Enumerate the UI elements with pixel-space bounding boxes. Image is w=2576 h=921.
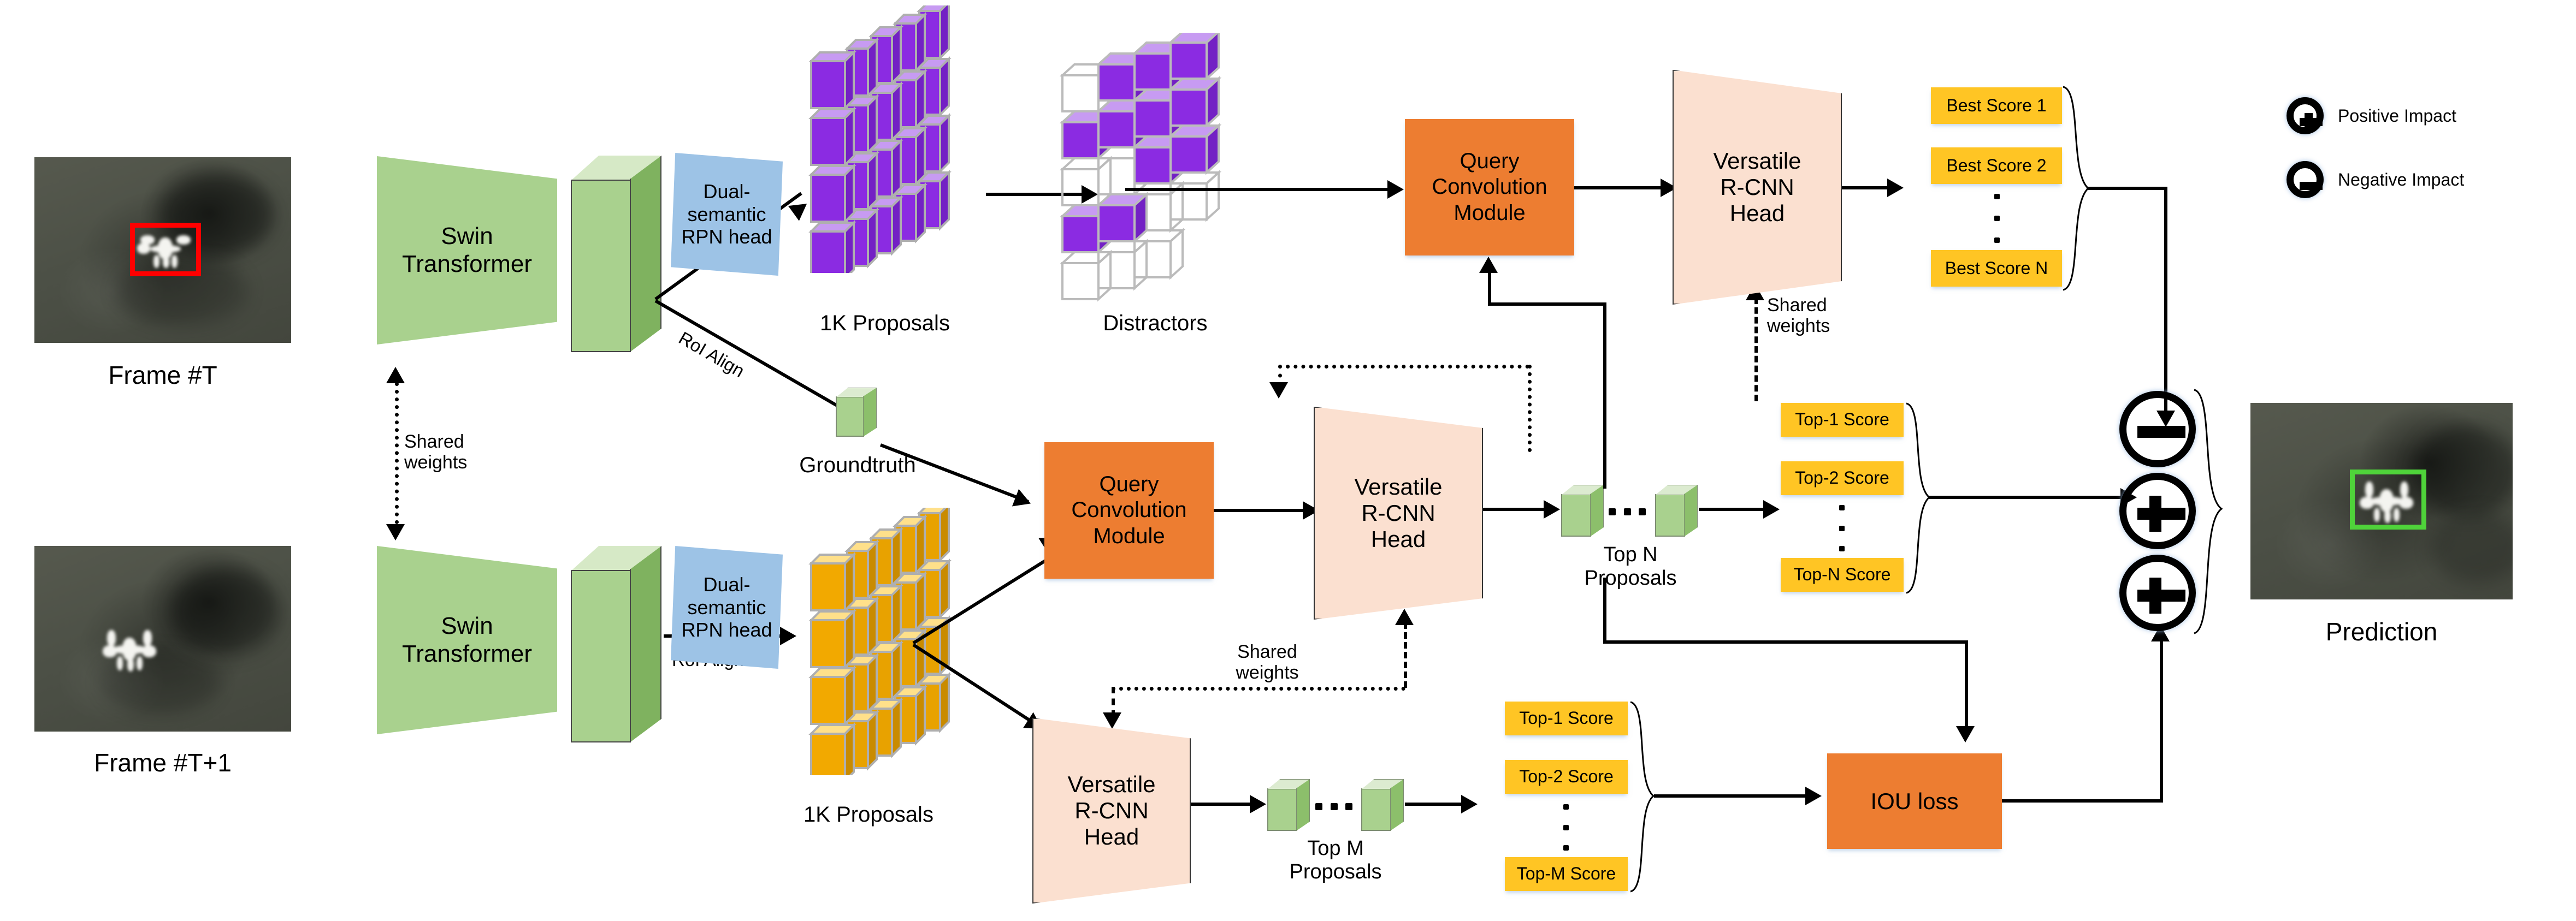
best-score-2-box[interactable]: Best Score 2 [1931,147,2062,184]
versatile-rcnn-head-bottom[interactable]: Versatile R-CNN Head [1032,718,1191,904]
input-frame-t-image [34,157,291,343]
plus-operator-circle-2 [2119,555,2196,631]
proposals-1k-top-label: 1K Proposals [792,311,978,336]
arrow-distractors-to-queryconv-top [1387,180,1404,199]
groundtruth-cube [836,388,877,437]
input-frame-t1-image [34,546,291,732]
query-convolution-module-top[interactable]: Query Convolution Module [1405,119,1574,255]
arrow-topn-to-scores [1763,500,1780,519]
arrow-head-to-bestscores [1887,179,1904,197]
line-topm-to-scores [1405,803,1465,806]
dotted-feedback-line-top [1278,365,1529,369]
top-m-proposals-label: Top M Proposals [1265,837,1407,883]
feature-map-top [571,156,661,352]
line-down-to-iou-loss [1965,640,1968,730]
top-m-proposals-ellipsis [1315,803,1352,810]
swin-transformer-top[interactable]: Swin Transformer [377,156,557,344]
top-n-proposal-cube-2 [1655,485,1698,537]
line-queryconv-mid-to-head-mid [1214,509,1307,512]
arrow-topm-to-scores [1461,795,1478,813]
best-score-n-box[interactable]: Best Score N [1931,250,2062,287]
plus-operator-circle-1 [2119,473,2196,549]
arrow-into-queryconv-top [1479,257,1498,273]
distractors-grid [1057,33,1286,306]
top-n-proposal-cube-1 [1561,485,1604,537]
top-2-score-label-m: Top-2 Score [1519,766,1614,787]
top-n-proposals-ellipsis [1609,508,1646,515]
top-m-score-box[interactable]: Top-M Score [1505,857,1628,891]
feature-map-bottom [571,546,661,742]
shared-weights-arrow-bottom-head [1103,712,1121,729]
prediction-image [2250,403,2513,599]
versatile-rcnn-head-top-label: Versatile R-CNN Head [1713,148,1801,227]
top-1-score-label-n: Top-1 Score [1795,409,1889,430]
line-topn-down-to-iou [1603,578,1606,643]
architecture-diagram: Frame #T Frame #T+1 Shared weights Swin … [0,0,2576,921]
best-score-1-label: Best Score 1 [1946,96,2046,116]
proposals-1k-bottom [799,508,996,775]
line-topn-to-scores [1699,508,1767,511]
shared-weights-line-mid-head [1404,622,1407,688]
shared-weights-label-bottom: Shared weights [1202,641,1333,683]
top-1-score-box-m[interactable]: Top-1 Score [1505,702,1628,735]
iou-loss-label: IOU loss [1870,788,1958,815]
plus-circle-icon [2287,97,2324,134]
legend-negative-impact: Negative Impact [2287,161,2464,198]
best-score-n-label: Best Score N [1945,258,2048,279]
line-into-queryconv-top [1488,273,1491,306]
legend-negative-impact-label: Negative Impact [2338,170,2464,190]
top-m-proposal-cube-2 [1361,779,1404,831]
top-n-score-ellipsis [1839,505,1845,551]
top-2-score-box-m[interactable]: Top-2 Score [1505,760,1628,794]
top-m-proposal-cube-1 [1267,779,1310,831]
line-distractors-to-queryconv-top [1125,188,1393,191]
line-iou-up-to-plus [2160,640,2163,801]
legend-positive-impact: Positive Impact [2287,97,2456,134]
roi-align-label-2: RoI Align [675,328,748,382]
minus-circle-icon [2287,161,2324,198]
drone-target-t1 [103,628,159,672]
versatile-rcnn-head-top[interactable]: Versatile R-CNN Head [1673,70,1842,305]
line-topn-down-horizontal [1603,640,1968,644]
groundtruth-label: Groundtruth [767,453,948,478]
line-head-to-bestscores [1842,186,1891,189]
top-m-score-ellipsis [1563,804,1569,851]
top-n-proposals-label: Top N Proposals [1559,543,1701,590]
prediction-bbox [2350,470,2426,530]
top-m-score-label: Top-M Score [1517,864,1616,884]
shared-weights-label-top-head: Shared weights [1767,295,1882,336]
swin-transformer-bottom[interactable]: Swin Transformer [377,546,557,734]
line-topn-up-to-queryconv-top [1603,306,1606,489]
backbone-shared-weights-line [395,382,399,524]
minus-operator-circle [2119,391,2196,467]
rpn-head-top-label: Dual- semantic RPN head [681,180,772,248]
groundtruth-bbox-t [130,223,201,276]
shared-weights-dotted-bottom [1112,687,1405,691]
legend-positive-impact-label: Positive Impact [2338,106,2456,126]
frame-t1-caption: Frame #T+1 [23,748,302,777]
dotted-feedback-down-top [1528,365,1532,452]
backbone-shared-arrow-up [386,367,405,383]
top-2-score-box-n[interactable]: Top-2 Score [1781,461,1904,495]
line-iou-out [2002,799,2163,803]
iou-loss-box[interactable]: IOU loss [1827,753,2002,849]
proposals-1k-top [799,5,996,273]
arrow-head-bottom-to-topm [1250,795,1266,813]
line-topmscores-to-iou [1654,794,1810,798]
versatile-rcnn-head-bottom-label: Versatile R-CNN Head [1067,771,1155,851]
shared-weights-line-top-head [1754,298,1758,401]
top-1-score-box-n[interactable]: Top-1 Score [1781,403,1904,437]
rpn-head-bottom-label: Dual- semantic RPN head [681,573,772,641]
line-queryconv-to-head-top [1574,186,1664,189]
arrow-head-mid-to-topn [1544,500,1560,519]
dotted-feedback-vline-left [1278,365,1282,387]
distractors-label: Distractors [1038,311,1273,336]
line-head-mid-to-topn [1483,508,1549,511]
swin-transformer-top-label: Swin Transformer [402,223,532,278]
arrow-topmscores-to-iou [1805,787,1822,805]
top-n-score-label: Top-N Score [1794,565,1891,585]
query-convolution-module-mid-label: Query Convolution Module [1071,472,1186,549]
versatile-rcnn-head-mid-label: Versatile R-CNN Head [1354,474,1442,553]
best-score-1-box[interactable]: Best Score 1 [1931,87,2062,124]
line-head-bottom-to-topm [1190,803,1254,806]
line-bestscores-to-minus [2087,187,2167,190]
arrow-down-to-iou-loss [1956,726,1975,742]
dual-semantic-rpn-head-top[interactable]: Dual- semantic RPN head [671,153,783,276]
arrow-groundtruth-to-queryconv-mid [1012,489,1034,512]
line-topn-up-horizontal [1488,302,1606,306]
best-score-2-label: Best Score 2 [1946,156,2046,176]
query-convolution-module-top-label: Query Convolution Module [1432,148,1547,226]
top-1-score-label-m: Top-1 Score [1519,708,1614,729]
prediction-caption: Prediction [2250,617,2513,646]
line-topnscores-to-plus [1929,496,2126,499]
query-convolution-module-mid[interactable]: Query Convolution Module [1044,442,1214,579]
versatile-rcnn-head-mid[interactable]: Versatile R-CNN Head [1314,407,1483,620]
shared-weights-arrow-mid-head [1395,609,1414,625]
top-n-score-box[interactable]: Top-N Score [1781,558,1904,592]
line-bestscores-down [2164,187,2167,416]
swin-transformer-bottom-label: Swin Transformer [402,613,532,668]
operators-to-prediction-brace [2193,388,2226,636]
dual-semantic-rpn-head-bottom[interactable]: Dual- semantic RPN head [671,546,783,669]
proposals-1k-bottom-label: 1K Proposals [776,803,961,827]
backbone-shared-arrow-down [386,524,405,540]
frame-t-caption: Frame #T [34,360,291,390]
top-2-score-label-n: Top-2 Score [1795,468,1889,489]
best-score-ellipsis [1994,194,2000,243]
roi-align-arrow-3 [780,627,796,645]
backbone-shared-weights-label: Shared weights [404,431,524,473]
